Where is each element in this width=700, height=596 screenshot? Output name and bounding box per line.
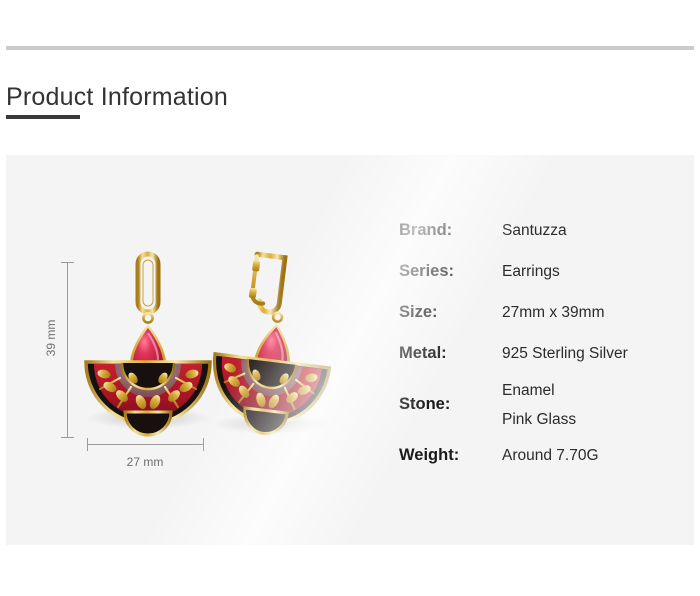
earring-right (206, 251, 342, 441)
spec-value-weight: Around 7.70G (502, 441, 599, 470)
spec-label-weight: Weight: (399, 446, 502, 465)
spec-row-brand: Brand: Santuzza (399, 210, 689, 251)
spec-value-stone-line1: Enamel (502, 376, 576, 405)
product-photo-area: 39 mm 27 mm (6, 155, 396, 545)
spec-row-stone: Stone: Enamel Pink Glass (399, 374, 689, 435)
height-dimension-label: 39 mm (44, 288, 58, 388)
page-title: Product Information (6, 82, 228, 112)
spec-value-size: 27mm x 39mm (502, 298, 605, 327)
spec-row-size: Size: 27mm x 39mm (399, 292, 689, 333)
spec-row-weight: Weight: Around 7.70G (399, 435, 689, 476)
product-information-panel: 39 mm 27 mm (6, 155, 694, 545)
spec-label-series: Series: (399, 262, 502, 281)
title-underline-accent (6, 115, 80, 119)
spec-label-stone: Stone: (399, 395, 502, 414)
specification-list: Brand: Santuzza Series: Earrings Size: 2… (399, 210, 689, 476)
spec-label-brand: Brand: (399, 221, 502, 240)
spec-value-brand: Santuzza (502, 216, 567, 245)
spec-label-size: Size: (399, 303, 502, 322)
top-divider (6, 46, 694, 50)
earrings-product-image (66, 250, 366, 460)
spec-row-series: Series: Earrings (399, 251, 689, 292)
spec-value-stone-line2: Pink Glass (502, 405, 576, 434)
spec-value-stone: Enamel Pink Glass (502, 376, 576, 434)
spec-value-metal: 925 Sterling Silver (502, 339, 628, 368)
spec-value-series: Earrings (502, 257, 560, 286)
spec-row-metal: Metal: 925 Sterling Silver (399, 333, 689, 374)
spec-label-metal: Metal: (399, 344, 502, 363)
earring-left (86, 254, 210, 435)
